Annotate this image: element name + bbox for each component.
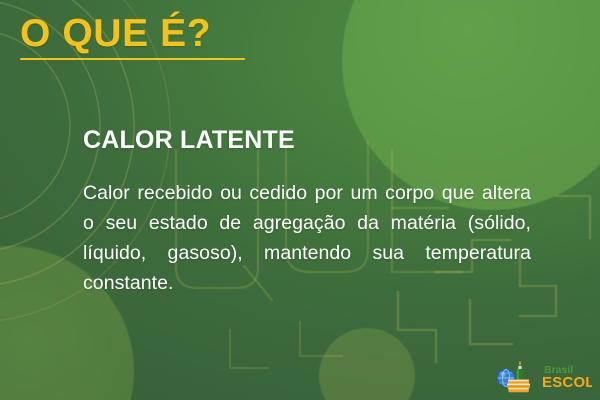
title-underline (20, 58, 245, 60)
brand-logo[interactable]: Brasil ESCOLA (495, 360, 592, 394)
page-title: O QUE É? (20, 12, 260, 56)
books-icon (507, 380, 530, 393)
logo-illustration (495, 360, 539, 394)
candle-icon (517, 361, 524, 382)
title-block: O QUE É? (20, 12, 260, 60)
definition-paragraph: Calor recebido ou cedido por um corpo qu… (83, 178, 531, 328)
content-block: CALOR LATENTE Calor recebido ou cedido p… (83, 126, 531, 328)
section-heading: CALOR LATENTE (83, 126, 531, 154)
logo-wordmark: Brasil ESCOLA (542, 362, 592, 392)
slide-canvas: O QUE É? CALOR LATENTE Calor recebido ou… (0, 0, 600, 400)
logo-brand-main: ESCOLA (542, 374, 592, 391)
